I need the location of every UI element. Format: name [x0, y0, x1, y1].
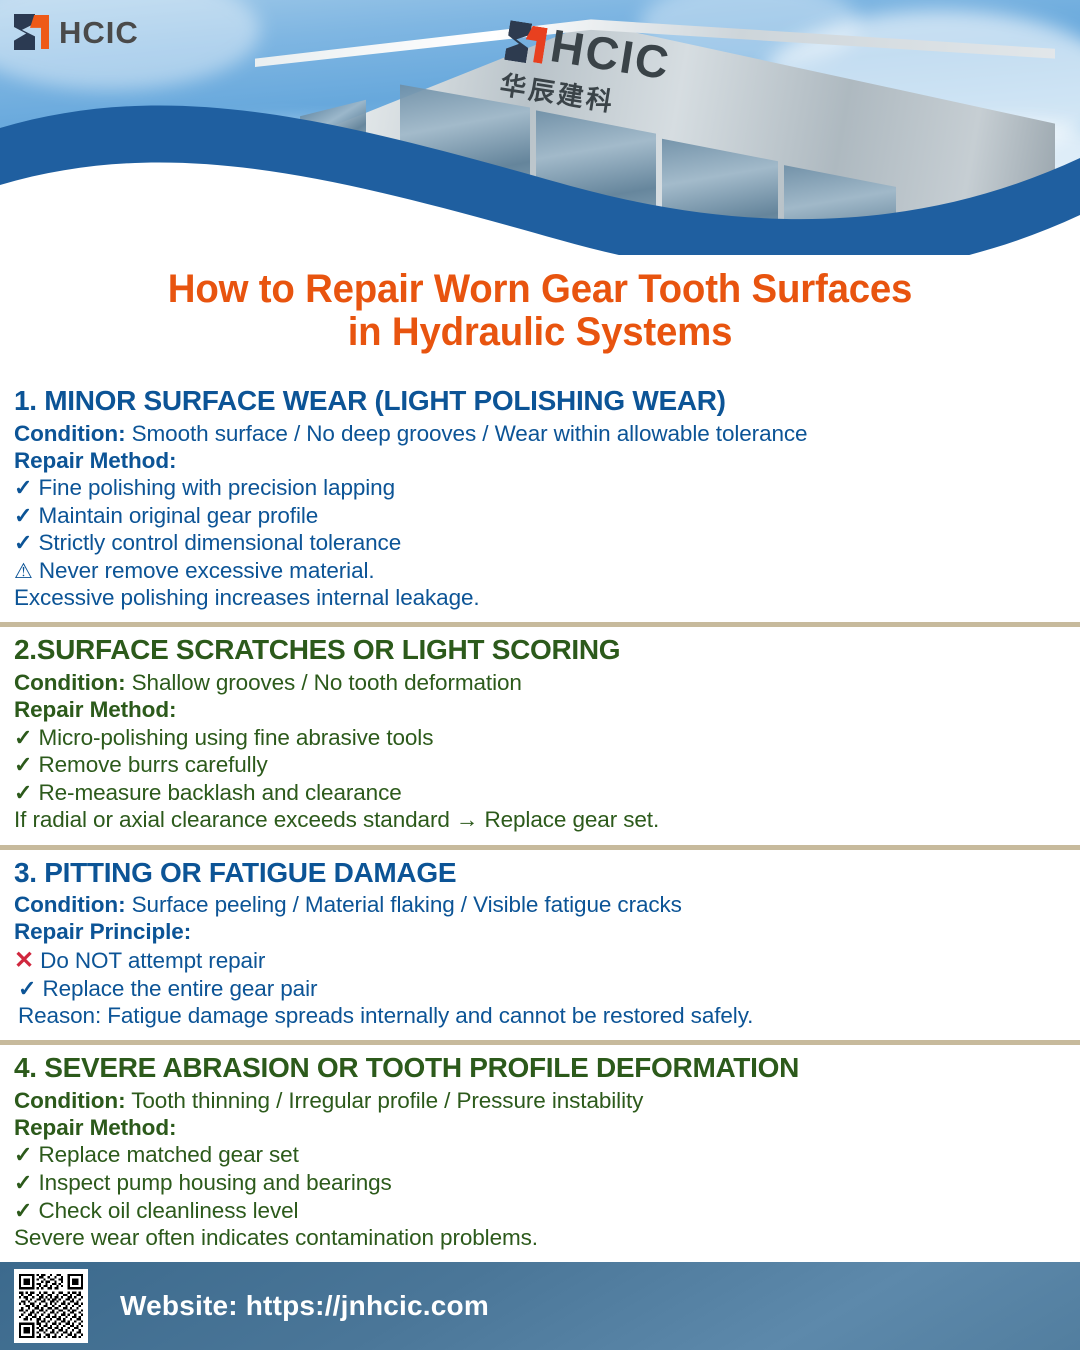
section-2-condition: Condition: Shallow grooves / No tooth de… [14, 669, 1080, 696]
check-icon: ✓ [14, 1142, 32, 1167]
section-1: 1. MINOR SURFACE WEAR (LIGHT POLISHING W… [0, 382, 1080, 617]
condition-label: Condition: [14, 1088, 125, 1113]
hcic-logo: HCIC [14, 14, 139, 50]
item-text: Micro-polishing using fine abrasive tool… [32, 725, 433, 750]
section-2-heading: 2.SURFACE SCRATCHES OR LIGHT SCORING [14, 633, 1080, 667]
section-4-note: Severe wear often indicates contaminatio… [14, 1224, 1080, 1251]
section-4-condition: Condition: Tooth thinning / Irregular pr… [14, 1087, 1080, 1114]
item-text: Maintain original gear profile [32, 503, 318, 528]
section-4-heading: 4. SEVERE ABRASION OR TOOTH PROFILE DEFO… [14, 1051, 1080, 1085]
item-text: Remove burrs carefully [32, 752, 267, 777]
page-title: How to Repair Worn Gear Tooth Surfaces i… [22, 268, 1059, 354]
check-icon: ✓ [14, 780, 32, 805]
item-text: Check oil cleanliness level [32, 1198, 298, 1223]
footer-bar: Website: https://jnhcic.com [0, 1262, 1080, 1350]
section-1-item-0: ✓ Fine polishing with precision lapping [14, 474, 1080, 502]
section-divider [0, 845, 1080, 850]
item-text: Replace the entire gear pair [36, 976, 317, 1001]
hcic-logo-mark-facade [504, 20, 550, 66]
condition-value: Smooth surface / No deep grooves / Wear … [125, 421, 807, 446]
check-icon: ✓ [14, 1198, 32, 1223]
section-divider [0, 622, 1080, 627]
section-4-item-2: ✓ Check oil cleanliness level [14, 1197, 1080, 1225]
section-3-note: Reason: Fatigue damage spreads internall… [18, 1002, 1080, 1029]
section-2-item-1: ✓ Remove burrs carefully [14, 751, 1080, 779]
item-text: Re-measure backlash and clearance [32, 780, 401, 805]
check-icon: ✓ [18, 976, 36, 1001]
section-1-item-3: ⚠ Never remove excessive material. [14, 557, 1080, 584]
cross-icon: ✕ [14, 947, 34, 974]
condition-value: Shallow grooves / No tooth deformation [125, 670, 521, 695]
section-3-item-0: ✕ Do NOT attempt repair [14, 946, 1080, 975]
section-2-item-2: ✓ Re-measure backlash and clearance [14, 779, 1080, 807]
check-icon: ✓ [14, 1170, 32, 1195]
hcic-logo-mark [14, 14, 50, 50]
condition-label: Condition: [14, 670, 125, 695]
section-2-note: If radial or axial clearance exceeds sta… [14, 806, 1080, 833]
section-1-method-label: Repair Method: [14, 447, 1080, 474]
item-text: Never remove excessive material. [33, 558, 375, 583]
section-1-heading: 1. MINOR SURFACE WEAR (LIGHT POLISHING W… [14, 384, 1080, 418]
condition-value: Surface peeling / Material flaking / Vis… [125, 892, 681, 917]
warning-icon: ⚠ [14, 560, 33, 583]
section-1-note: Excessive polishing increases internal l… [14, 584, 1080, 611]
condition-label: Condition: [14, 421, 125, 446]
section-divider [0, 1040, 1080, 1045]
item-text: Strictly control dimensional tolerance [32, 530, 401, 555]
section-4: 4. SEVERE ABRASION OR TOOTH PROFILE DEFO… [0, 1049, 1080, 1257]
section-4-item-0: ✓ Replace matched gear set [14, 1141, 1080, 1169]
section-4-method-label: Repair Method: [14, 1114, 1080, 1141]
qr-code[interactable] [14, 1269, 88, 1343]
item-text: Replace matched gear set [32, 1142, 298, 1167]
page-title-line2: in Hydraulic Systems [22, 311, 1059, 354]
section-3-item-1: ✓ Replace the entire gear pair [18, 975, 1080, 1003]
condition-label: Condition: [14, 892, 125, 917]
section-1-item-2: ✓ Strictly control dimensional tolerance [14, 529, 1080, 557]
website-text[interactable]: Website: https://jnhcic.com [120, 1290, 489, 1322]
hcic-logo-text: HCIC [59, 17, 139, 48]
item-text: Fine polishing with precision lapping [32, 475, 395, 500]
section-3-condition: Condition: Surface peeling / Material fl… [14, 891, 1080, 918]
section-2-item-0: ✓ Micro-polishing using fine abrasive to… [14, 724, 1080, 752]
check-icon: ✓ [14, 530, 32, 555]
item-text: Inspect pump housing and bearings [32, 1170, 391, 1195]
check-icon: ✓ [14, 725, 32, 750]
section-1-condition: Condition: Smooth surface / No deep groo… [14, 420, 1080, 447]
item-text: Do NOT attempt repair [34, 948, 265, 973]
section-1-item-1: ✓ Maintain original gear profile [14, 502, 1080, 530]
check-icon: ✓ [14, 475, 32, 500]
condition-value: Tooth thinning / Irregular profile / Pre… [125, 1088, 643, 1113]
section-3-heading: 3. PITTING OR FATIGUE DAMAGE [14, 856, 1080, 890]
sections-container: 1. MINOR SURFACE WEAR (LIGHT POLISHING W… [0, 382, 1080, 1258]
section-2: 2.SURFACE SCRATCHES OR LIGHT SCORING Con… [0, 631, 1080, 839]
section-3-method-label: Repair Principle: [14, 918, 1080, 945]
header-banner: HCIC 华辰建科 HCIC [0, 0, 1080, 255]
check-icon: ✓ [14, 752, 32, 777]
page-title-line1: How to Repair Worn Gear Tooth Surfaces [22, 268, 1059, 311]
section-2-method-label: Repair Method: [14, 696, 1080, 723]
section-4-item-1: ✓ Inspect pump housing and bearings [14, 1169, 1080, 1197]
check-icon: ✓ [14, 503, 32, 528]
section-3: 3. PITTING OR FATIGUE DAMAGE Condition: … [0, 854, 1080, 1036]
